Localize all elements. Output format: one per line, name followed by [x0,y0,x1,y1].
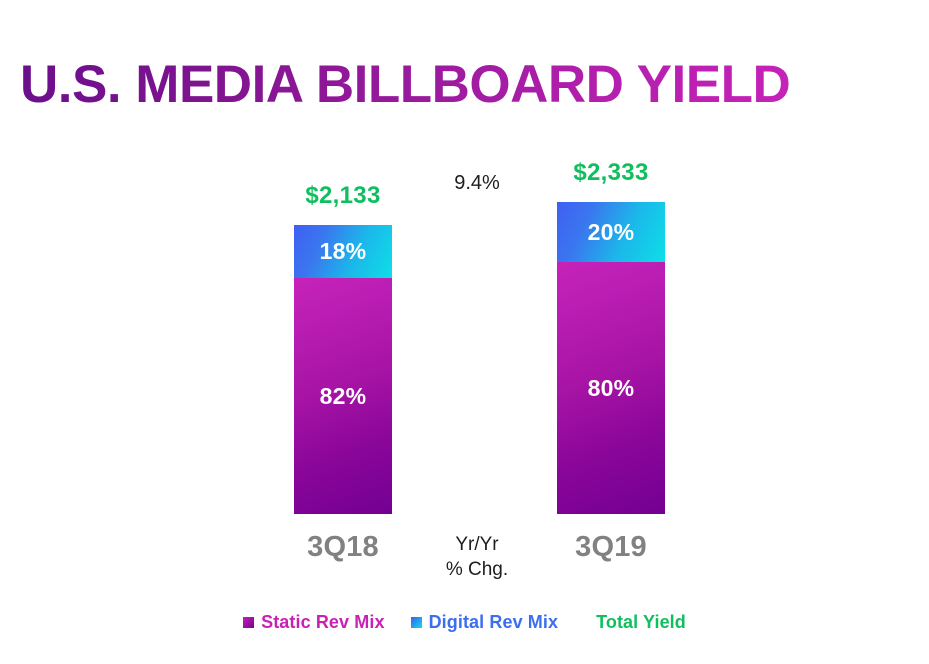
legend-label-static-rev-mix: Static Rev Mix [261,612,384,633]
bar-segment-digital-3q18[interactable]: 18% [294,225,392,278]
bar-segment-digital-3q19[interactable]: 20% [557,202,665,262]
bar-group-3q19[interactable]: $2,333 20% 80% 3Q19 [557,202,665,514]
x-axis-label-3q18: 3Q18 [294,531,392,564]
yoy-value-label: 9.4% [417,172,537,195]
bar-total-label-3q18: $2,133 [294,182,392,210]
legend-item-total-yield[interactable]: Total Yield [596,612,686,633]
bar-segment-label-digital-3q19: 20% [588,221,635,244]
bar-stack-3q19: 20% 80% [557,202,665,514]
square-swatch-magenta-icon [243,617,254,628]
legend-item-digital-rev-mix[interactable]: Digital Rev Mix [411,612,559,633]
bar-segment-label-static-3q19: 80% [588,377,635,400]
legend-label-total-yield: Total Yield [596,612,686,633]
chart-plot-area: U.S. MEDIA BILLBOARD YIELD $2,133 18% 82… [0,0,929,664]
bar-segment-label-digital-3q18: 18% [320,240,367,263]
yoy-caption-label: Yr/Yr % Chg. [417,532,537,582]
bar-segment-label-static-3q18: 82% [320,385,367,408]
bar-segment-static-3q19[interactable]: 80% [557,262,665,514]
bar-group-3q18[interactable]: $2,133 18% 82% 3Q18 [294,225,392,514]
bar-total-label-3q19: $2,333 [557,159,665,187]
chart-legend: Static Rev Mix Digital Rev Mix Total Yie… [0,612,929,633]
bar-stack-3q18: 18% 82% [294,225,392,514]
x-axis-label-3q19: 3Q19 [557,531,665,564]
bar-segment-static-3q18[interactable]: 82% [294,278,392,514]
legend-label-digital-rev-mix: Digital Rev Mix [429,612,559,633]
chart-title: U.S. MEDIA BILLBOARD YIELD [20,53,790,117]
legend-item-static-rev-mix[interactable]: Static Rev Mix [243,612,384,633]
square-swatch-blue-icon [411,617,422,628]
